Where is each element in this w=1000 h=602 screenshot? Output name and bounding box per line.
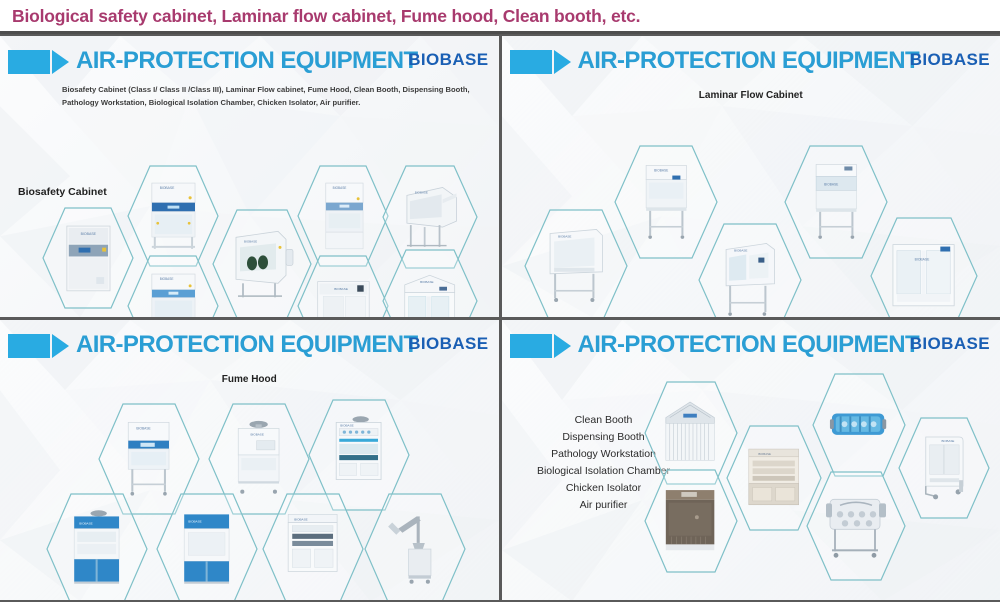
product-hexagon[interactable]: BIOBASE <box>156 492 258 601</box>
product-image-biosafety-cabinet-white-wide: BIOBASE <box>314 269 373 317</box>
svg-text:BIOBASE: BIOBASE <box>295 518 308 522</box>
svg-text:BIOBASE: BIOBASE <box>734 249 747 253</box>
product-image-fume-hood-blue-top-doors: BIOBASE <box>174 507 239 589</box>
svg-text:BIOBASE: BIOBASE <box>915 257 930 261</box>
svg-text:BIOBASE: BIOBASE <box>244 239 257 243</box>
panel-header: AIR-PROTECTION EQUIPMENT BIOBASE <box>0 36 499 80</box>
arrow-marker-icon <box>510 334 572 358</box>
product-image-pathology-workstation: BIOBASE <box>743 439 804 517</box>
svg-text:BIOBASE: BIOBASE <box>332 186 346 190</box>
panel-header: AIR-PROTECTION EQUIPMENT BIOBASE <box>0 320 499 364</box>
panel-header: AIR-PROTECTION EQUIPMENT BIOBASE <box>502 36 1000 80</box>
svg-text:BIOBASE: BIOBASE <box>80 522 93 526</box>
svg-text:BIOBASE: BIOBASE <box>80 231 96 235</box>
product-image-biosafety-cabinet-blue-sash-low: BIOBASE <box>144 269 203 317</box>
product-image-laminar-flow-cabinet-angled: BIOBASE <box>716 238 783 316</box>
svg-text:BIOBASE: BIOBASE <box>558 235 571 239</box>
product-image-laminar-flow-cabinet-open-front: BIOBASE <box>542 224 609 308</box>
product-image-fume-hood-panel-controls: BIOBASE <box>326 413 391 495</box>
product-hexagon[interactable]: BIOBASE <box>297 254 389 317</box>
svg-text:BIOBASE: BIOBASE <box>415 190 428 194</box>
svg-text:BIOBASE: BIOBASE <box>758 451 771 455</box>
product-hexagon[interactable] <box>806 470 906 582</box>
panel-header-title: AIR-PROTECTION EQUIPMENT <box>578 331 920 359</box>
product-hexagon[interactable] <box>364 492 466 601</box>
panel-fume-hood: AIR-PROTECTION EQUIPMENT BIOBASE Fume Ho… <box>0 320 499 601</box>
biobase-logo-text: BIOBASE <box>910 334 990 353</box>
product-image-biological-isolation-chamber <box>824 485 888 566</box>
product-hexagon[interactable]: BIOBASE <box>127 254 219 317</box>
product-hexagon[interactable]: BIOBASE <box>898 416 990 520</box>
product-image-clean-booth-curtain <box>660 394 720 470</box>
product-hexagon[interactable] <box>812 372 906 478</box>
arrow-marker-icon <box>8 50 70 74</box>
biobase-logo: BIOBASE <box>910 334 990 354</box>
panel-header: AIR-PROTECTION EQUIPMENT BIOBASE <box>502 320 1000 364</box>
product-image-fume-hood-blue-top-base: BIOBASE <box>64 507 129 589</box>
product-hexagon[interactable]: BIOBASE <box>262 492 364 601</box>
svg-text:BIOBASE: BIOBASE <box>824 183 839 187</box>
product-hexagon[interactable] <box>644 468 738 574</box>
page-title-bar: Biological safety cabinet, Laminar flow … <box>0 0 1000 32</box>
page-title: Biological safety cabinet, Laminar flow … <box>0 6 640 27</box>
svg-text:BIOBASE: BIOBASE <box>334 286 348 290</box>
panel-header-title: AIR-PROTECTION EQUIPMENT <box>76 47 418 75</box>
svg-text:BIOBASE: BIOBASE <box>251 433 264 437</box>
section-label-laminar-flow: Laminar Flow Cabinet <box>502 90 1000 101</box>
svg-text:BIOBASE: BIOBASE <box>159 276 173 280</box>
panel-clean-booth: AIR-PROTECTION EQUIPMENT BIOBASE Clean B… <box>502 320 1000 601</box>
product-hexagon[interactable]: BIOBASE <box>870 216 978 317</box>
biobase-logo-text: BIOBASE <box>408 334 488 353</box>
product-image-fume-extraction-arm <box>382 507 447 589</box>
product-image-chicken-isolator-blue <box>828 386 888 462</box>
svg-text:BIOBASE: BIOBASE <box>189 520 202 524</box>
product-image-fume-hood-walk-in: BIOBASE <box>280 507 345 589</box>
section-label-fume-hood: Fume Hood <box>0 374 499 385</box>
product-image-fume-hood-blue-sash-stand: BIOBASE <box>116 417 181 499</box>
product-image-dispensing-booth-stainless <box>660 482 720 558</box>
arrow-marker-icon <box>510 50 572 74</box>
svg-text:BIOBASE: BIOBASE <box>341 424 354 428</box>
svg-text:BIOBASE: BIOBASE <box>420 280 433 284</box>
product-hexagon[interactable]: BIOBASE <box>524 208 628 317</box>
biobase-logo-text: BIOBASE <box>408 50 488 69</box>
arrow-marker-icon <box>8 334 70 358</box>
product-image-biosafety-cabinet-white-tall: BIOBASE <box>314 179 373 254</box>
biobase-logo: BIOBASE <box>910 50 990 70</box>
biobase-logo-text: BIOBASE <box>910 50 990 69</box>
panel-description: Biosafety Cabinet (Class I/ Class II /Cl… <box>62 84 470 109</box>
svg-text:BIOBASE: BIOBASE <box>942 439 955 443</box>
svg-text:BIOBASE: BIOBASE <box>137 427 152 431</box>
panel-header-title: AIR-PROTECTION EQUIPMENT <box>578 47 920 75</box>
product-image-horizontal-clean-bench: BIOBASE <box>399 263 460 317</box>
product-image-air-purifier-mobile: BIOBASE <box>914 430 973 505</box>
biobase-logo: BIOBASE <box>408 334 488 354</box>
section-label-biosafety: Biosafety Cabinet <box>18 186 107 198</box>
panel-biosafety-cabinet: AIR-PROTECTION EQUIPMENT BIOBASE Biosafe… <box>0 36 499 317</box>
svg-text:BIOBASE: BIOBASE <box>159 186 174 190</box>
product-hexagon[interactable]: BIOBASE <box>297 164 389 268</box>
product-image-laminar-flow-clean-bench-wide: BIOBASE <box>889 233 958 317</box>
product-image-laminar-flow-cabinet-tall-glass: BIOBASE <box>802 160 869 244</box>
panel-grid: AIR-PROTECTION EQUIPMENT BIOBASE Biosafe… <box>0 34 1000 602</box>
product-image-fume-hood-white-cabinet: BIOBASE <box>226 417 291 499</box>
product-image-biosafety-cabinet-blue-sash: BIOBASE <box>144 179 203 254</box>
svg-text:BIOBASE: BIOBASE <box>654 169 669 173</box>
panel-header-title: AIR-PROTECTION EQUIPMENT <box>76 331 418 359</box>
product-image-laminar-flow-cabinet-vertical: BIOBASE <box>632 160 699 244</box>
product-image-biological-isolation-bench: BIOBASE <box>399 179 460 255</box>
panel-laminar-flow-cabinet: AIR-PROTECTION EQUIPMENT BIOBASE Laminar… <box>502 36 1000 317</box>
biobase-logo: BIOBASE <box>408 50 488 70</box>
product-hexagon[interactable]: BIOBASE <box>382 248 478 317</box>
product-image-class-iii-glovebox-isolator: BIOBASE <box>230 224 294 305</box>
product-hexagon[interactable]: BIOBASE <box>42 206 134 310</box>
product-hexagon[interactable]: BIOBASE <box>46 492 148 601</box>
product-hexagon[interactable]: BIOBASE <box>127 164 219 268</box>
product-image-biosafety-cabinet-grey-front: BIOBASE <box>59 221 118 296</box>
poster-page: Biological safety cabinet, Laminar flow … <box>0 0 1000 602</box>
